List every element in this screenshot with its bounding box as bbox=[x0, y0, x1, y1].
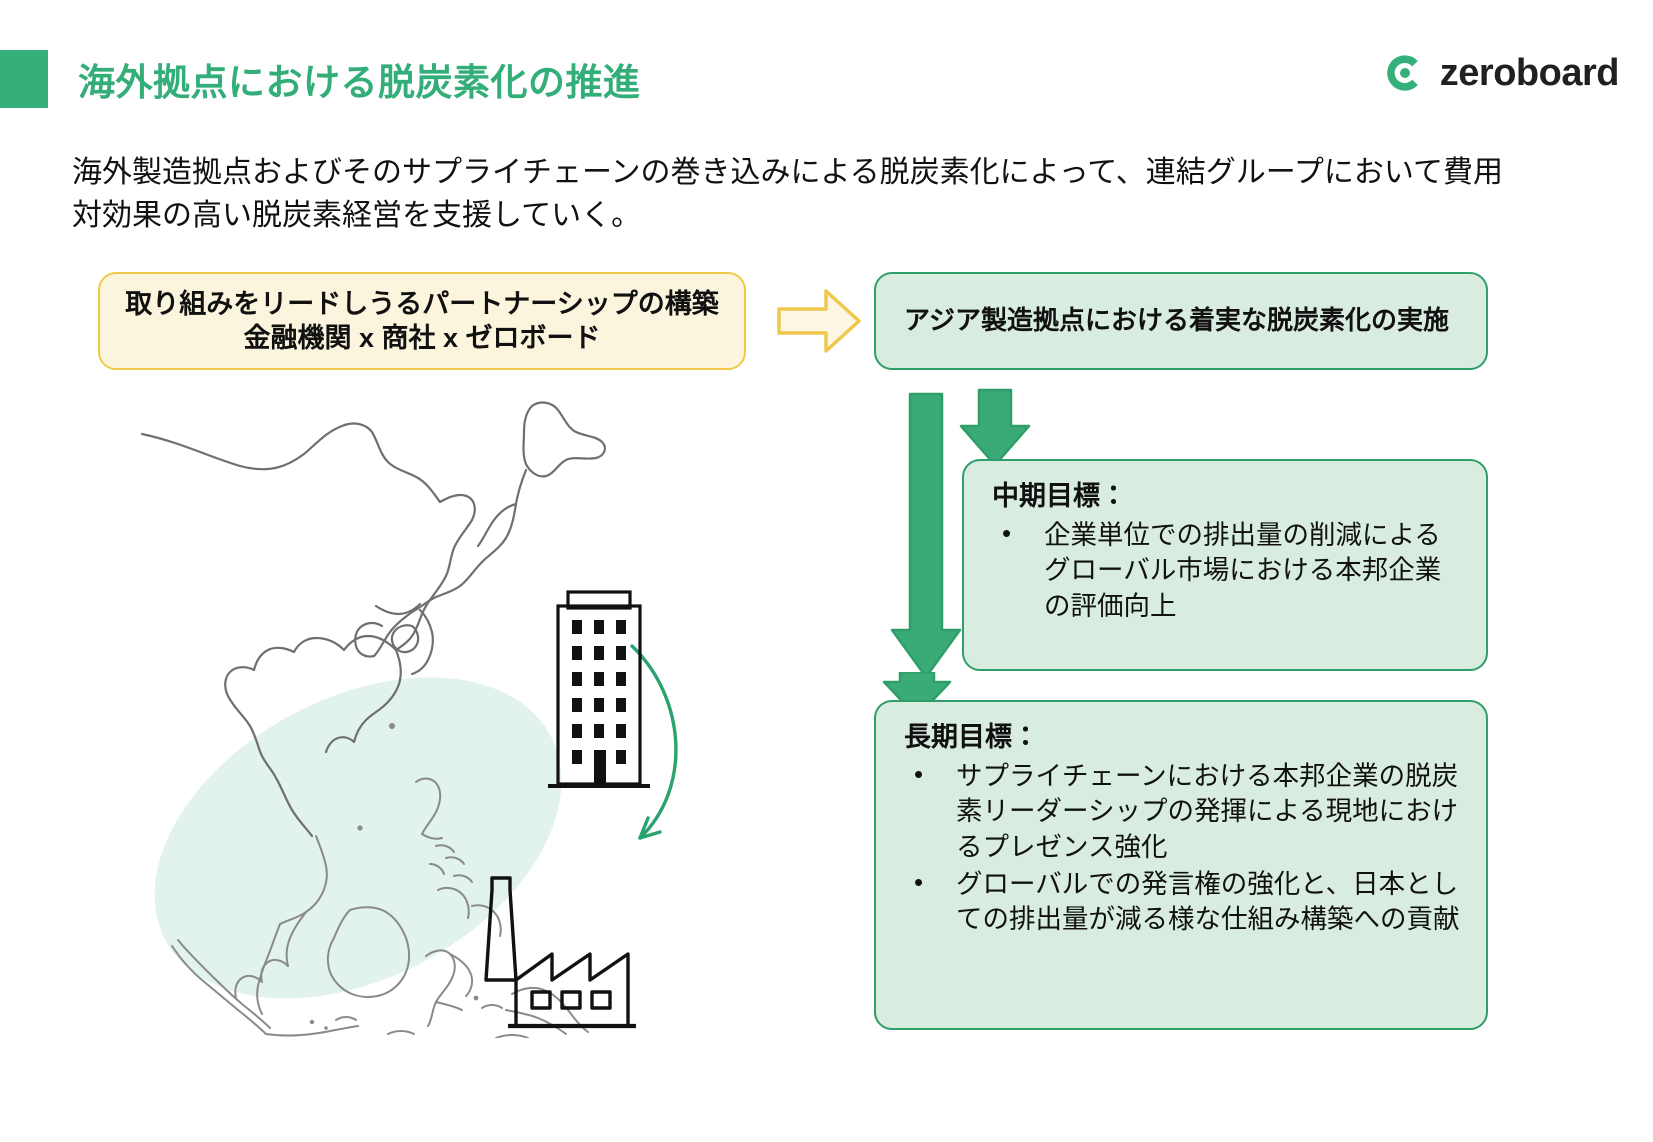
title-accent-bar bbox=[0, 50, 48, 108]
list-item: 企業単位での排出量の削減によるグローバル市場における本邦企業の評価向上 bbox=[992, 518, 1460, 624]
mid-term-bullet-list: 企業単位での排出量の削減によるグローバル市場における本邦企業の評価向上 bbox=[992, 518, 1460, 624]
down-arrow-icon-mid bbox=[957, 388, 1033, 468]
asia-manufacturing-box: アジア製造拠点における着実な脱炭素化の実施 bbox=[874, 272, 1488, 370]
brand-logo: zeroboard bbox=[1384, 52, 1619, 94]
brand-name: zeroboard bbox=[1440, 54, 1619, 92]
partnership-box: 取り組みをリードしうるパートナーシップの構築 金融機関 x 商社 x ゼロボード bbox=[98, 272, 746, 370]
down-arrow-icon-long bbox=[888, 392, 964, 680]
mid-term-goal-box: 中期目標： 企業単位での排出量の削減によるグローバル市場における本邦企業の評価向… bbox=[962, 459, 1488, 671]
zeroboard-mark-icon bbox=[1384, 52, 1426, 94]
partnership-line-1: 取り組みをリードしうるパートナーシップの構築 bbox=[125, 287, 718, 321]
long-term-title: 長期目標： bbox=[904, 720, 1460, 755]
right-arrow-icon bbox=[776, 288, 862, 354]
page-title: 海外拠点における脱炭素化の推進 bbox=[78, 52, 641, 106]
slide-canvas: 海外拠点における脱炭素化の推進 zeroboard 海外製造拠点およびそのサプラ… bbox=[0, 0, 1653, 1142]
list-item: グローバルでの発言権の強化と、日本としての排出量が減る様な仕組み構築への貢献 bbox=[904, 867, 1460, 937]
long-term-goal-box: 長期目標： サプライチェーンにおける本邦企業の脱炭素リーダーシップの発揮による現… bbox=[874, 700, 1488, 1030]
lead-paragraph: 海外製造拠点およびそのサプライチェーンの巻き込みによる脱炭素化によって、連結グル… bbox=[72, 152, 1524, 237]
factory-icon bbox=[486, 878, 636, 1026]
asia-map-illustration bbox=[120, 398, 720, 1038]
asia-box-heading: アジア製造拠点における着実な脱炭素化の実施 bbox=[904, 304, 1449, 337]
list-item: サプライチェーンにおける本邦企業の脱炭素リーダーシップの発揮による現地におけるプ… bbox=[904, 759, 1460, 865]
japan-outline bbox=[355, 403, 605, 657]
mid-term-title: 中期目標： bbox=[992, 479, 1460, 514]
office-building-icon bbox=[548, 592, 650, 786]
partnership-line-2: 金融機関 x 商社 x ゼロボード bbox=[243, 321, 600, 355]
long-term-bullet-list: サプライチェーンにおける本邦企業の脱炭素リーダーシップの発揮による現地におけるプ… bbox=[904, 759, 1460, 937]
